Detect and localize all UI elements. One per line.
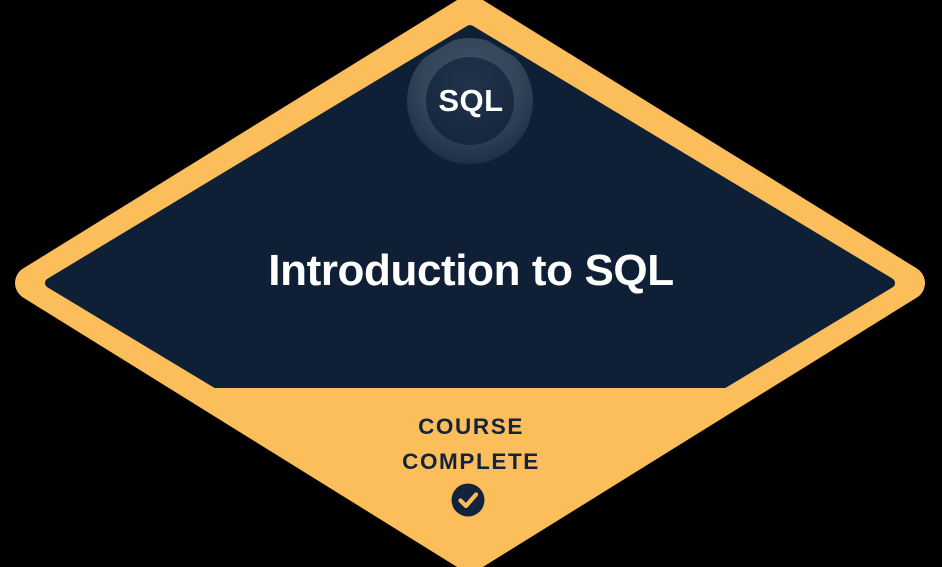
badge-graphic: [0, 0, 942, 567]
course-badge-canvas: SQL Introduction to SQL COURSE COMPLETE: [0, 0, 942, 567]
sql-chip-icon: [407, 38, 533, 164]
check-circle-icon: [452, 484, 485, 517]
